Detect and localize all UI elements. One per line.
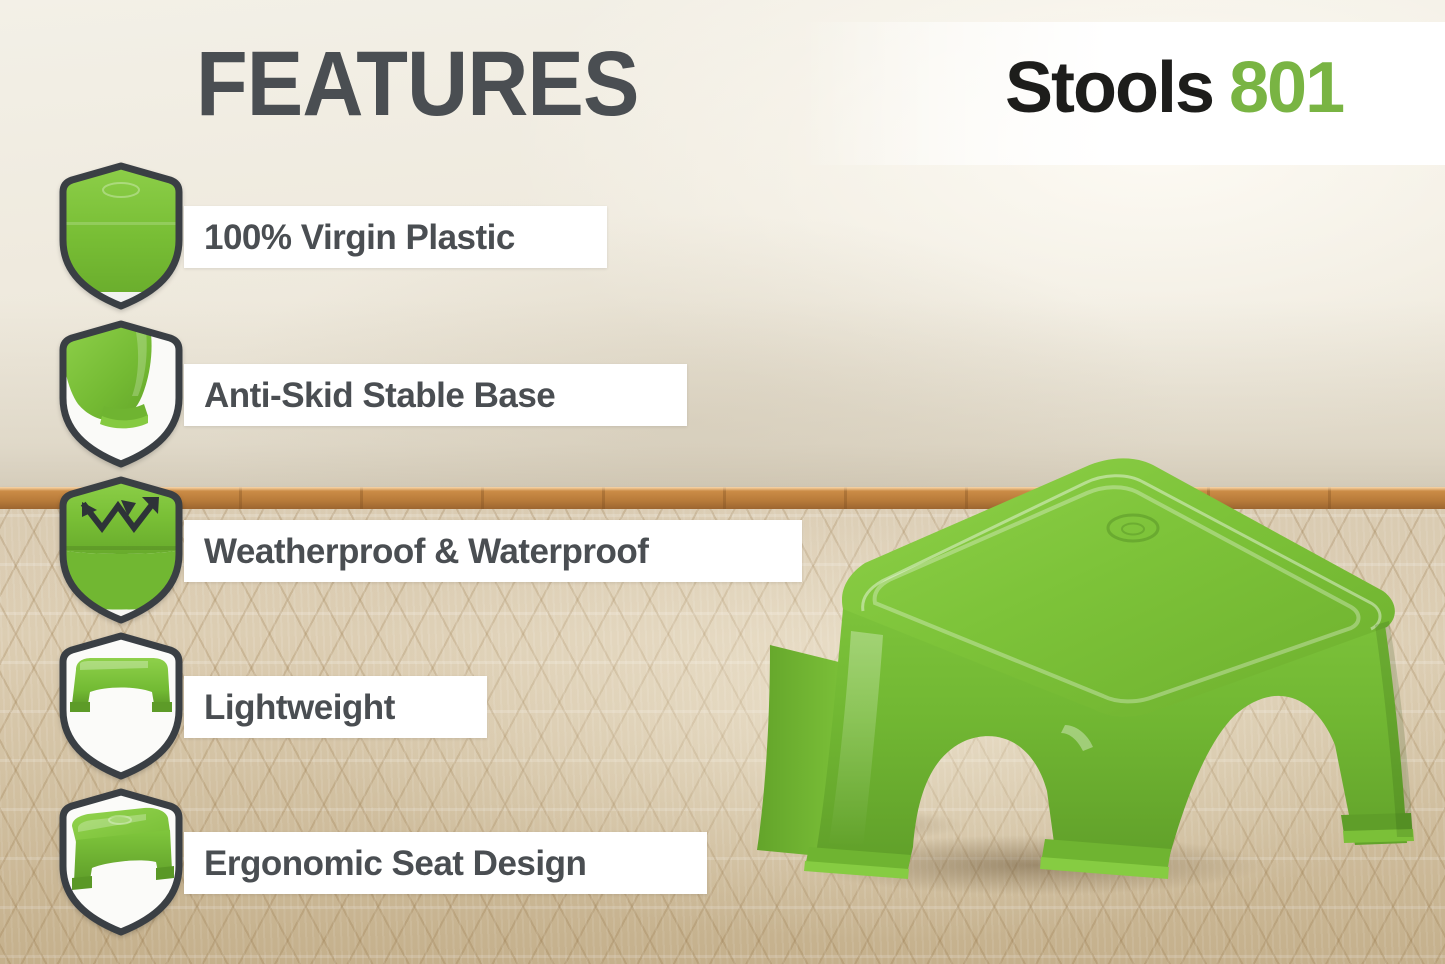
feature-label: Weatherproof & Waterproof — [204, 534, 648, 569]
shield-weatherproof-icon — [58, 476, 184, 624]
feature-label-bar: Ergonomic Seat Design — [184, 832, 707, 894]
brand-number: 801 — [1229, 48, 1343, 128]
feature-label: 100% Virgin Plastic — [204, 220, 515, 255]
feature-label-bar: Anti-Skid Stable Base — [184, 364, 687, 426]
feature-label: Anti-Skid Stable Base — [204, 378, 555, 413]
page-title: FEATURES — [196, 38, 639, 130]
feature-label-bar: 100% Virgin Plastic — [184, 206, 607, 268]
feature-label-bar: Weatherproof & Waterproof — [184, 520, 802, 582]
feature-label: Lightweight — [204, 690, 395, 725]
product-feature-poster: FEATURES Stools801 — [0, 0, 1445, 964]
brand-title: Stools801 — [1005, 52, 1343, 124]
shield-stool-leg-icon — [58, 320, 184, 468]
shield-stool-angle-icon — [58, 788, 184, 936]
shield-stool-top-icon — [58, 162, 184, 310]
feature-label-bar: Lightweight — [184, 676, 487, 738]
feature-label: Ergonomic Seat Design — [204, 846, 586, 881]
brand-name: Stools — [1005, 48, 1213, 128]
product-image — [735, 395, 1445, 925]
shield-stool-front-icon — [58, 632, 184, 780]
